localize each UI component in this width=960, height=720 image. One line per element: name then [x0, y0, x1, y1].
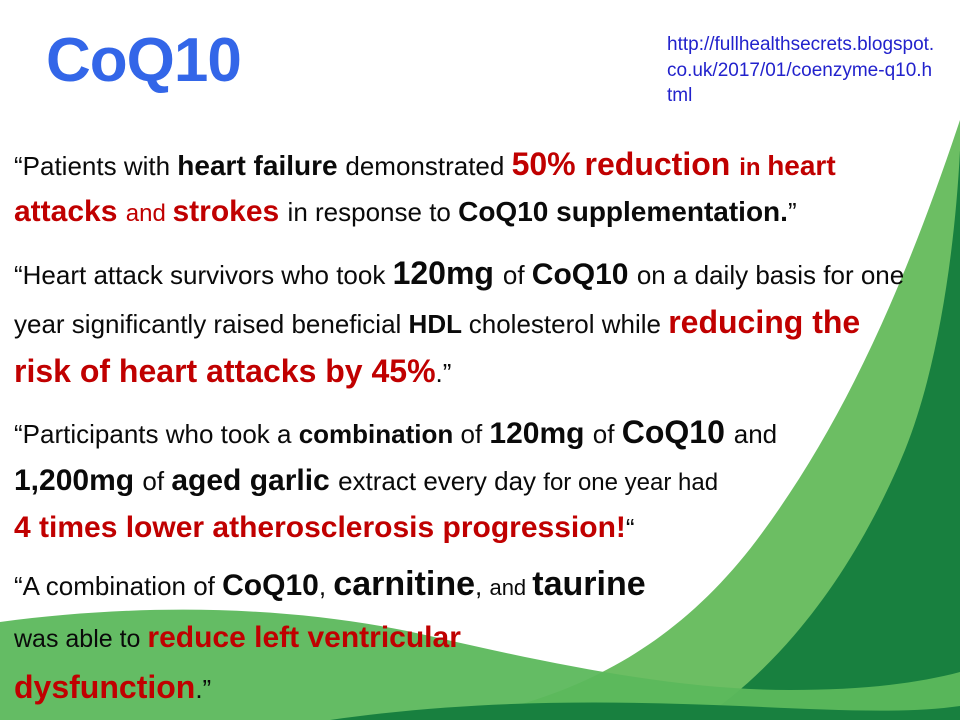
text-run: attacks	[14, 195, 126, 228]
quote-block-1: “Patients with heart failure demonstrate…	[14, 142, 950, 236]
text-run: “A combination of	[14, 571, 222, 601]
text-run: “Participants who took a	[14, 419, 299, 449]
text-run: dysfunction	[14, 669, 195, 705]
text-run: carnitine	[333, 565, 475, 603]
text-run: in response to	[288, 197, 459, 227]
text-run: 120mg	[489, 417, 592, 450]
text-run: demonstrated	[345, 151, 511, 181]
text-run: reducing the	[668, 304, 860, 340]
text-run: cholesterol while	[469, 309, 668, 339]
quote-line: year significantly raised beneficial HDL…	[14, 299, 950, 348]
source-url-line-1: http://fullhealthsecrets.bl	[667, 34, 872, 55]
quote-line: 1,200mg of aged garlic extract every day…	[14, 458, 950, 505]
slide-canvas: CoQ10 http://fullhealthsecrets.blogspot.…	[0, 0, 960, 720]
text-run: and	[126, 200, 173, 227]
text-run: reduce left ventricular	[147, 621, 460, 654]
quote-line: “Participants who took a combination of …	[14, 410, 950, 458]
quote-block-2: “Heart attack survivors who took 120mg o…	[14, 250, 950, 397]
text-run: combination	[299, 419, 461, 449]
text-run: heart failure	[177, 150, 345, 181]
text-run: of	[593, 419, 622, 449]
text-run: and	[734, 419, 777, 449]
quote-line: “Patients with heart failure demonstrate…	[14, 142, 950, 190]
text-run: aged garlic	[171, 464, 338, 497]
text-run: extract every day	[338, 466, 543, 496]
text-run: “Patients with	[14, 151, 177, 181]
text-run: of	[142, 466, 171, 496]
text-run: heart	[767, 150, 835, 181]
text-run: HDL	[409, 309, 469, 339]
text-run: for one year had	[543, 469, 718, 496]
source-url-link[interactable]: http://fullhealthsecrets.blogspot.co.uk/…	[667, 32, 935, 109]
quote-block-3: “Participants who took a combination of …	[14, 410, 950, 552]
text-run: CoQ10	[622, 414, 734, 450]
text-run: of	[460, 419, 489, 449]
text-run: risk of heart attacks by 45%	[14, 353, 436, 389]
text-run: ”	[788, 197, 797, 227]
text-run: ,	[319, 571, 333, 601]
text-run: in	[739, 154, 767, 181]
quote-line: “Heart attack survivors who took 120mg o…	[14, 250, 950, 299]
text-run: of	[503, 260, 532, 290]
text-run: “Heart attack survivors who took	[14, 260, 393, 290]
text-run: on a daily basis for one	[637, 260, 904, 290]
text-run: ,	[475, 571, 489, 601]
text-run: CoQ10 supplementation.	[458, 196, 788, 227]
text-run: .”	[436, 358, 452, 388]
text-run: “	[626, 513, 635, 543]
page-title: CoQ10	[46, 28, 241, 93]
text-run: taurine	[532, 565, 645, 603]
text-run: CoQ10	[222, 569, 319, 602]
quote-line: dysfunction.”	[14, 663, 950, 714]
text-run: was able to	[14, 625, 147, 653]
quote-line: was able to reduce left ventricular	[14, 614, 950, 663]
text-run: year significantly raised beneficial	[14, 309, 409, 339]
text-run: 1,200mg	[14, 464, 142, 497]
text-run: strokes	[172, 195, 287, 228]
quote-line: attacks and strokes in response to CoQ10…	[14, 190, 950, 236]
text-run: and	[489, 575, 532, 600]
quote-line: 4 times lower atherosclerosis progressio…	[14, 505, 950, 552]
text-run: .”	[195, 674, 211, 704]
text-run: 120mg	[393, 255, 503, 291]
text-run: CoQ10	[532, 258, 637, 291]
text-run: 4 times lower atherosclerosis progressio…	[14, 511, 626, 544]
quote-block-4: “A combination of CoQ10, carnitine, and …	[14, 558, 950, 714]
quote-line: risk of heart attacks by 45%.”	[14, 348, 950, 397]
text-run: 50% reduction	[512, 146, 740, 182]
quote-line: “A combination of CoQ10, carnitine, and …	[14, 558, 950, 614]
